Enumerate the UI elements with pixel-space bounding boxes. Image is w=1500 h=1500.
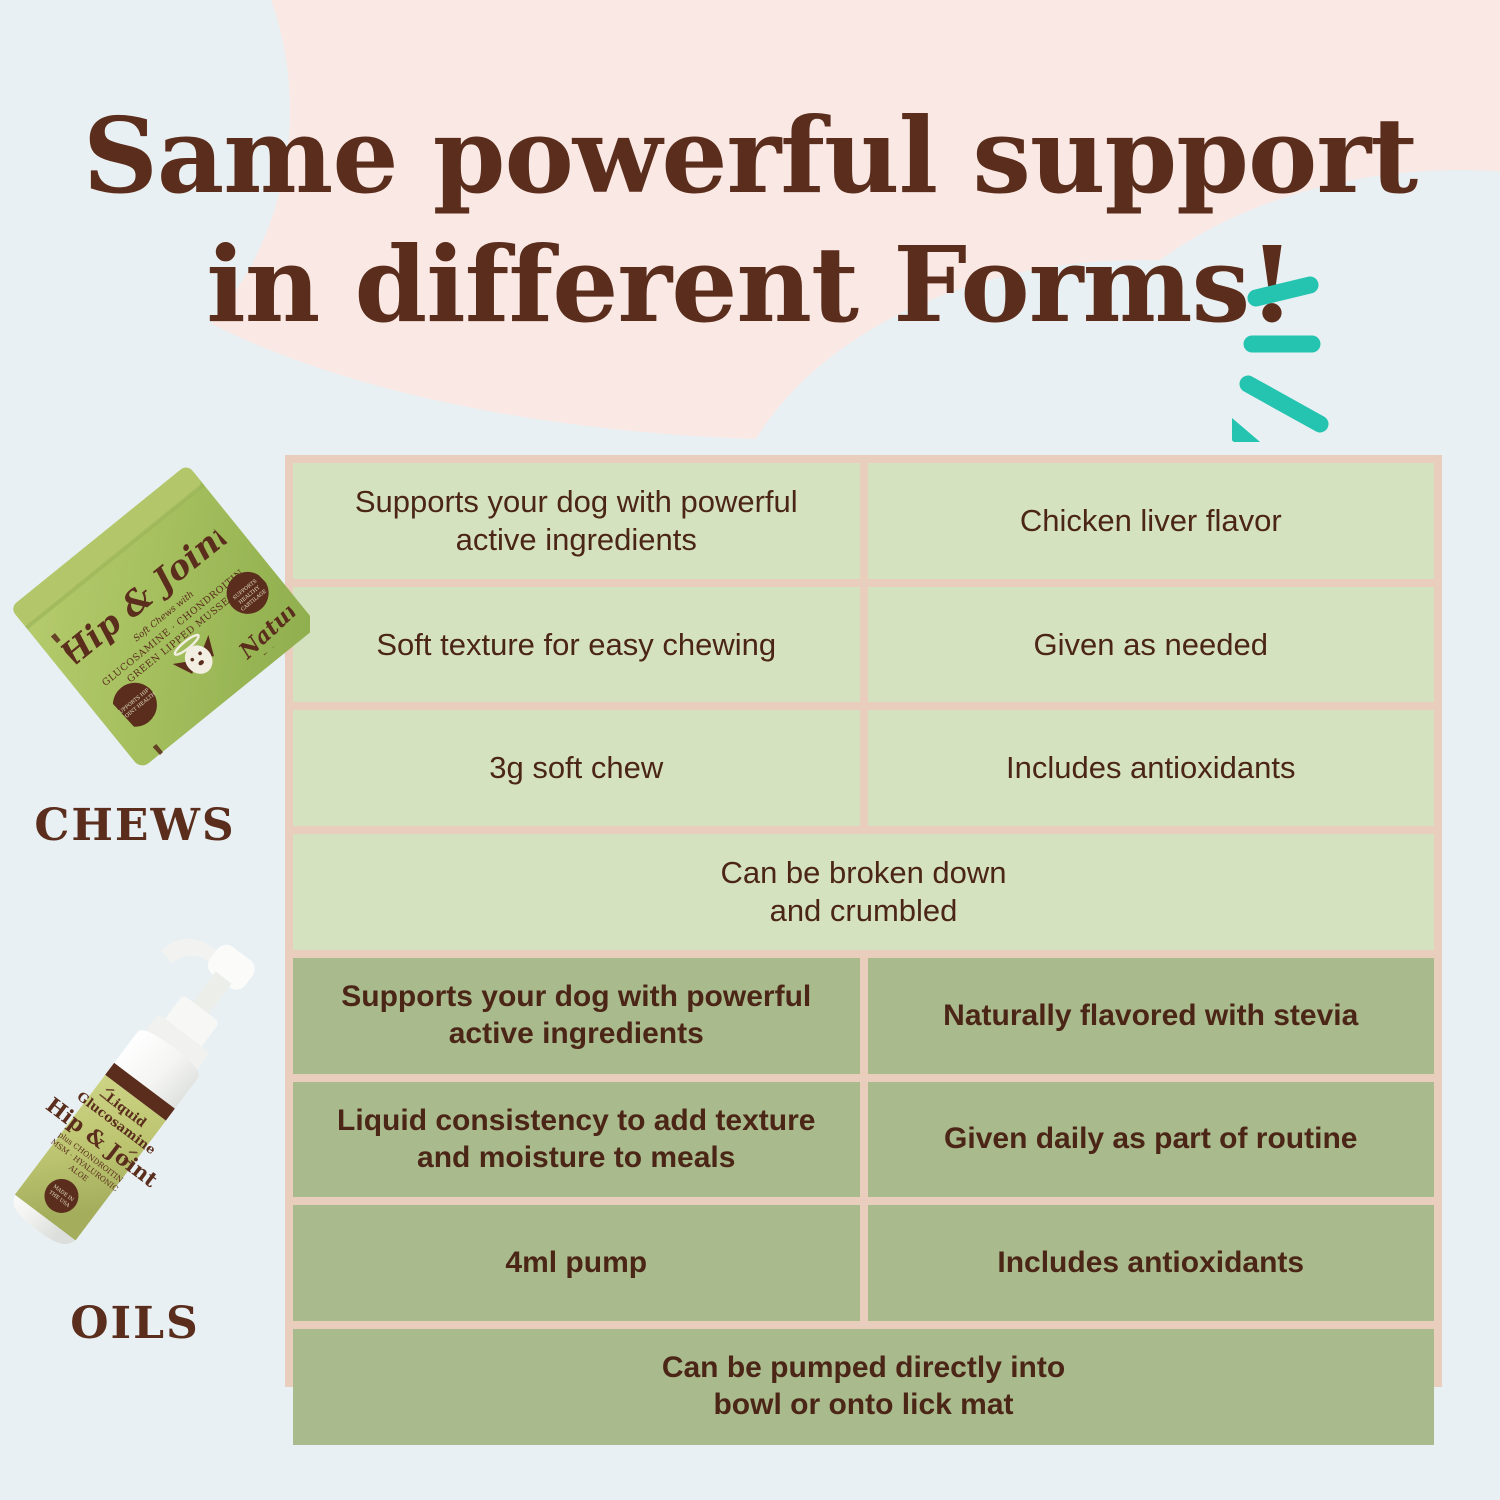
teal-burst-accent — [1232, 272, 1402, 442]
cell-chews-1-right: Given as needed — [868, 587, 1435, 702]
cell-chews-0-left: Supports your dog with powerful active i… — [293, 463, 860, 579]
cell-chews-2-right: Includes antioxidants — [868, 710, 1435, 826]
table-row-full: Can be broken downand crumbled — [293, 834, 1434, 950]
cell-oils-0-right: Naturally flavored with stevia — [868, 958, 1435, 1074]
cell-chews-0-right: Chicken liver flavor — [868, 463, 1435, 579]
table-row: Liquid consistency to add texture and mo… — [293, 1082, 1434, 1197]
cell-oils-2-left: 4ml pump — [293, 1205, 860, 1321]
product-label-oils: OILS — [0, 1298, 285, 1349]
oils-comparison-section: Supports your dog with powerful active i… — [293, 958, 1434, 1445]
headline-line-1: Same powerful support — [83, 94, 1417, 217]
cell-oils-0-left: Supports your dog with powerful active i… — [293, 958, 860, 1074]
table-row: Soft texture for easy chewing Given as n… — [293, 587, 1434, 702]
cell-oils-2-right: Includes antioxidants — [868, 1205, 1435, 1321]
table-row: 3g soft chew Includes antioxidants — [293, 710, 1434, 826]
table-row: 4ml pump Includes antioxidants — [293, 1205, 1434, 1321]
product-label-chews: CHEWS — [0, 800, 285, 851]
table-row: Supports your dog with powerful active i… — [293, 463, 1434, 579]
table-row: Supports your dog with powerful active i… — [293, 958, 1434, 1074]
comparison-table: Supports your dog with powerful active i… — [285, 455, 1442, 1387]
cell-oils-1-right: Given daily as part of routine — [868, 1082, 1435, 1197]
table-row-full: Can be pumped directly intobowl or onto … — [293, 1329, 1434, 1445]
cell-chews-full: Can be broken downand crumbled — [293, 834, 1434, 950]
cell-oils-full: Can be pumped directly intobowl or onto … — [293, 1329, 1434, 1445]
cell-chews-1-left: Soft texture for easy chewing — [293, 587, 860, 702]
cell-oils-1-left: Liquid consistency to add texture and mo… — [293, 1082, 860, 1197]
oils-product-image: Liquid Glucosamine Hip & Joint plus CHON… — [10, 935, 320, 1315]
cell-chews-2-left: 3g soft chew — [293, 710, 860, 826]
chews-comparison-section: Supports your dog with powerful active i… — [293, 463, 1434, 950]
chews-product-image: Hip & Joint Soft Chews with GLUCOSAMINE … — [10, 455, 310, 795]
